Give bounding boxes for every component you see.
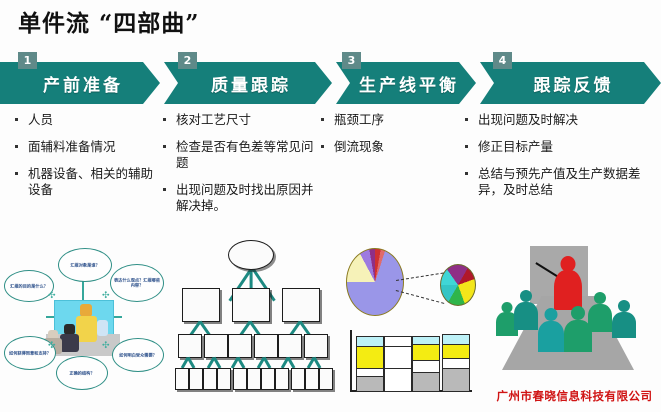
presentation-illustration [492, 240, 657, 380]
list-item: 核对工艺尺寸 [160, 112, 320, 128]
tree-node [247, 368, 261, 390]
tree-diagram [172, 240, 336, 412]
charts-illustration [338, 240, 488, 412]
tree-node [182, 288, 220, 322]
process-step-2-label: 质量跟踪 [211, 71, 291, 96]
list-item: 面辅料准备情况 [12, 139, 162, 155]
list-item: 机器设备、相关的辅助设备 [12, 166, 162, 198]
process-step-3-label: 生产线平衡 [359, 71, 459, 96]
mindmap-arrow-icon: ✣ [48, 292, 56, 301]
tree-link [263, 357, 272, 369]
audience-body [588, 304, 612, 332]
tree-node [204, 334, 228, 358]
pie-callout-line [396, 290, 445, 304]
tree-node [217, 368, 231, 390]
step-number-badge-1: 1 [18, 52, 37, 69]
artwork-row: 汇报对象是谁？ 表达什么观点？汇报哪些内容？ 汇报的目的是什么？ 如何获得同意和… [0, 240, 661, 412]
list-item: 人员 [12, 112, 162, 128]
mindmap-bubble-2-text: 表达什么观点？汇报哪些内容？ [111, 278, 163, 289]
mindmap-arrow-icon: ✣ [48, 342, 56, 351]
process-chevron-band: 产前准备 质量跟踪 生产线平衡 跟踪反馈 [0, 62, 661, 104]
list-item: 出现问题及时解决 [462, 112, 657, 128]
audience-head [571, 306, 585, 320]
tree-link [249, 268, 252, 290]
audience-figure [514, 290, 538, 330]
slide-root: 单件流 “四部曲” 产前准备 质量跟踪 生产线平衡 跟踪反馈 1 2 3 4 人… [0, 0, 661, 412]
mindmap-person-audience-body [60, 334, 79, 352]
mindmap-bubble-1: 汇报对象是谁？ [58, 248, 112, 282]
mindmap-person-presenter-paper [97, 320, 108, 336]
bar-segment [412, 372, 440, 392]
audience-head [545, 308, 558, 321]
pie-chart-main [346, 248, 404, 316]
bullet-column-2: 核对工艺尺寸 检查是否有色差等常见问题 出现问题及时找出原因并解决掉。 [160, 112, 320, 225]
mindmap-illustration: 汇报对象是谁？ 表达什么观点？汇报哪些内容？ 汇报的目的是什么？ 如何获得同意和… [2, 242, 166, 410]
tree-node [275, 368, 289, 390]
tree-node [254, 334, 278, 358]
step-number-badge-3: 3 [342, 52, 361, 69]
step-number-badge-2: 2 [178, 52, 197, 69]
audience-figure [612, 300, 636, 338]
audience-body [538, 321, 564, 352]
bar-chart-y-axis [350, 330, 352, 392]
tree-node [175, 368, 189, 390]
process-step-1-label: 产前准备 [43, 71, 123, 96]
mindmap-bubble-4-text: 如何获得同意和支持？ [5, 350, 55, 355]
audience-head [618, 300, 630, 312]
tree-node [304, 334, 328, 358]
mindmap-bubble-2: 表达什么观点？汇报哪些内容？ [110, 264, 164, 302]
page-title: 单件流 “四部曲” [18, 4, 199, 38]
step-number-badge-4: 4 [493, 52, 512, 69]
mindmap-bubble-5: 如何明白受众需要？ [112, 338, 164, 372]
stacked-bar-chart [344, 328, 482, 402]
tree-node [261, 368, 275, 390]
list-item: 修正目标产量 [462, 139, 657, 155]
bar-segment [356, 376, 384, 392]
tree-node [305, 368, 319, 390]
bullet-columns: 人员 面辅料准备情况 机器设备、相关的辅助设备 核对工艺尺寸 检查是否有色差等常… [0, 112, 661, 242]
audience-figure [588, 292, 612, 332]
mindmap-bubble-5-text: 如何明白受众需要？ [113, 352, 163, 357]
list-item: 出现问题及时找出原因并解决掉。 [160, 182, 320, 214]
tree-node [203, 368, 217, 390]
bullet-column-4: 出现问题及时解决 修正目标产量 总结与预先产值及生产数据差异，及时总结 [462, 112, 657, 209]
tree-link [313, 357, 322, 369]
tree-node [278, 334, 302, 358]
process-step-4-label: 跟踪反馈 [534, 71, 614, 96]
mindmap-bubble-6-text: 正确的结构？ [57, 370, 107, 375]
bar-segment [356, 346, 384, 370]
mindmap-bubble-6: 正确的结构？ [56, 356, 108, 390]
tree-node [282, 288, 320, 322]
audience-body [514, 302, 538, 330]
tree-link [213, 357, 222, 369]
list-item: 检查是否有色差等常见问题 [160, 139, 320, 171]
tree-node [291, 368, 305, 390]
tree-link [187, 357, 196, 369]
audience-head [594, 292, 606, 304]
mindmap-arrow-icon: ✣ [102, 292, 110, 301]
list-item: 倒流现象 [318, 139, 463, 155]
pie-chart-detail [440, 264, 476, 306]
mindmap-bubble-3-text: 汇报的目的是什么？ [5, 283, 53, 288]
tree-node [189, 368, 203, 390]
mindmap-arrow-icon: ✣ [102, 342, 110, 351]
bar-segment [384, 346, 412, 370]
audience-head [520, 290, 532, 302]
tree-node [232, 288, 270, 322]
bar-segment [442, 368, 470, 392]
tree-node [178, 334, 202, 358]
bullet-column-1: 人员 面辅料准备情况 机器设备、相关的辅助设备 [12, 112, 162, 209]
tree-node [233, 368, 247, 390]
list-item: 瓶颈工序 [318, 112, 463, 128]
tree-link [287, 357, 296, 369]
tree-link [237, 357, 246, 369]
tree-node [319, 368, 333, 390]
mindmap-bubble-3: 汇报的目的是什么？ [4, 270, 54, 302]
audience-body [612, 312, 636, 338]
presenter-body [554, 270, 582, 310]
bullet-column-3: 瓶颈工序 倒流现象 [318, 112, 463, 166]
audience-figure [538, 308, 564, 352]
tree-root-node [228, 240, 274, 270]
list-item: 总结与预先产值及生产数据差异，及时总结 [462, 166, 657, 198]
company-footer: 广州市春晓信息科技有限公司 [492, 388, 657, 404]
bar-segment [384, 368, 412, 392]
presenter-figure [554, 256, 582, 310]
tree-node [228, 334, 252, 358]
mindmap-bubble-1-text: 汇报对象是谁？ [59, 262, 111, 267]
mindmap-person-presenter-body [76, 316, 97, 342]
